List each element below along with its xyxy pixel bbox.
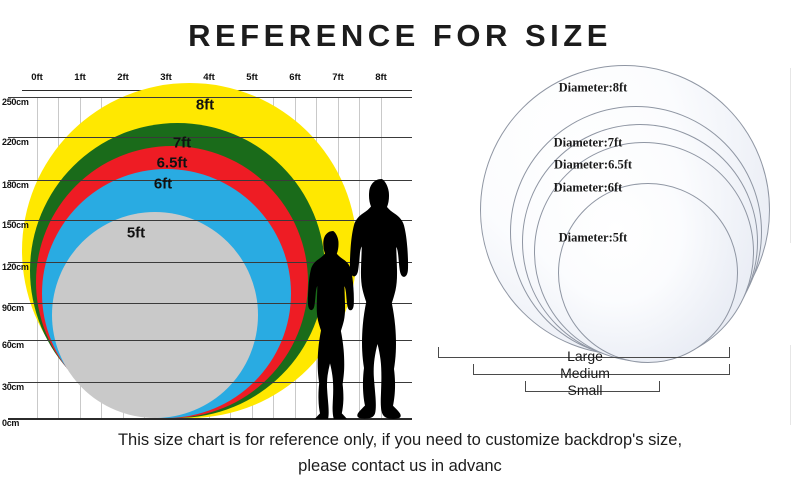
disc-diameter-diagram: Diameter:8ft Diameter:7ft Diameter:6.5ft… xyxy=(425,60,800,425)
disc-label-6ft: Diameter:6ft xyxy=(554,181,623,196)
footer-line-2: please contact us in advanc xyxy=(0,454,800,480)
y-axis-tick-label: 120cm xyxy=(2,263,29,272)
y-axis-tick-label: 250cm xyxy=(2,98,29,107)
x-axis-tick-label: 3ft xyxy=(160,73,172,83)
circle-label-6ft: 6ft xyxy=(154,176,172,193)
x-axis-tick-label: 6ft xyxy=(289,73,301,83)
x-axis-tick-label: 0ft xyxy=(31,73,43,83)
y-axis-tick-label: 220cm xyxy=(2,138,29,147)
disc-label-5ft: Diameter:5ft xyxy=(559,231,628,246)
circle-label-6-5ft: 6.5ft xyxy=(157,155,188,172)
footer-line-1: This size chart is for reference only, i… xyxy=(0,428,800,454)
size-circle-5ft xyxy=(52,212,258,418)
y-axis-tick-label: 30cm xyxy=(2,383,24,392)
x-axis-tick-label: 5ft xyxy=(246,73,258,83)
x-axis-tick-label: 1ft xyxy=(74,73,86,83)
disc-label-7ft: Diameter:7ft xyxy=(554,136,623,151)
x-axis-tick-label: 4ft xyxy=(203,73,215,83)
y-axis-tick-label: 60cm xyxy=(2,341,24,350)
circle-label-7ft: 7ft xyxy=(173,135,191,152)
disc-label-8ft: Diameter:8ft xyxy=(559,81,628,96)
y-axis-tick-label: 90cm xyxy=(2,304,24,313)
right-edge-border xyxy=(790,68,791,243)
right-edge-border-lower xyxy=(790,345,791,425)
page-title: REFERENCE FOR SIZE xyxy=(0,18,800,54)
circle-label-5ft: 5ft xyxy=(127,225,145,242)
footer-note: This size chart is for reference only, i… xyxy=(0,428,800,479)
x-axis-tick-label: 8ft xyxy=(375,73,387,83)
height-reference-chart: 0ft 1ft 2ft 3ft 4ft 5ft 6ft 7ft 8ft 250c… xyxy=(0,60,420,425)
child-silhouette xyxy=(306,230,360,420)
circle-label-8ft: 8ft xyxy=(196,97,214,114)
y-axis-tick-label: 0cm xyxy=(2,419,19,428)
bracket-label-small: Small xyxy=(567,382,602,398)
grid-line xyxy=(8,137,412,138)
x-axis-tick-label: 7ft xyxy=(332,73,344,83)
size-chart-canvas: REFERENCE FOR SIZE 0ft 1ft 2ft 3ft 4ft 5… xyxy=(0,0,800,488)
x-axis-tick-label: 2ft xyxy=(117,73,129,83)
y-axis-tick-label: 150cm xyxy=(2,221,29,230)
disc-5ft xyxy=(558,183,738,363)
y-axis-tick-label: 180cm xyxy=(2,181,29,190)
bracket-label-large: Large xyxy=(567,348,603,364)
bracket-label-medium: Medium xyxy=(560,365,610,381)
disc-label-6-5ft: Diameter:6.5ft xyxy=(554,158,632,173)
